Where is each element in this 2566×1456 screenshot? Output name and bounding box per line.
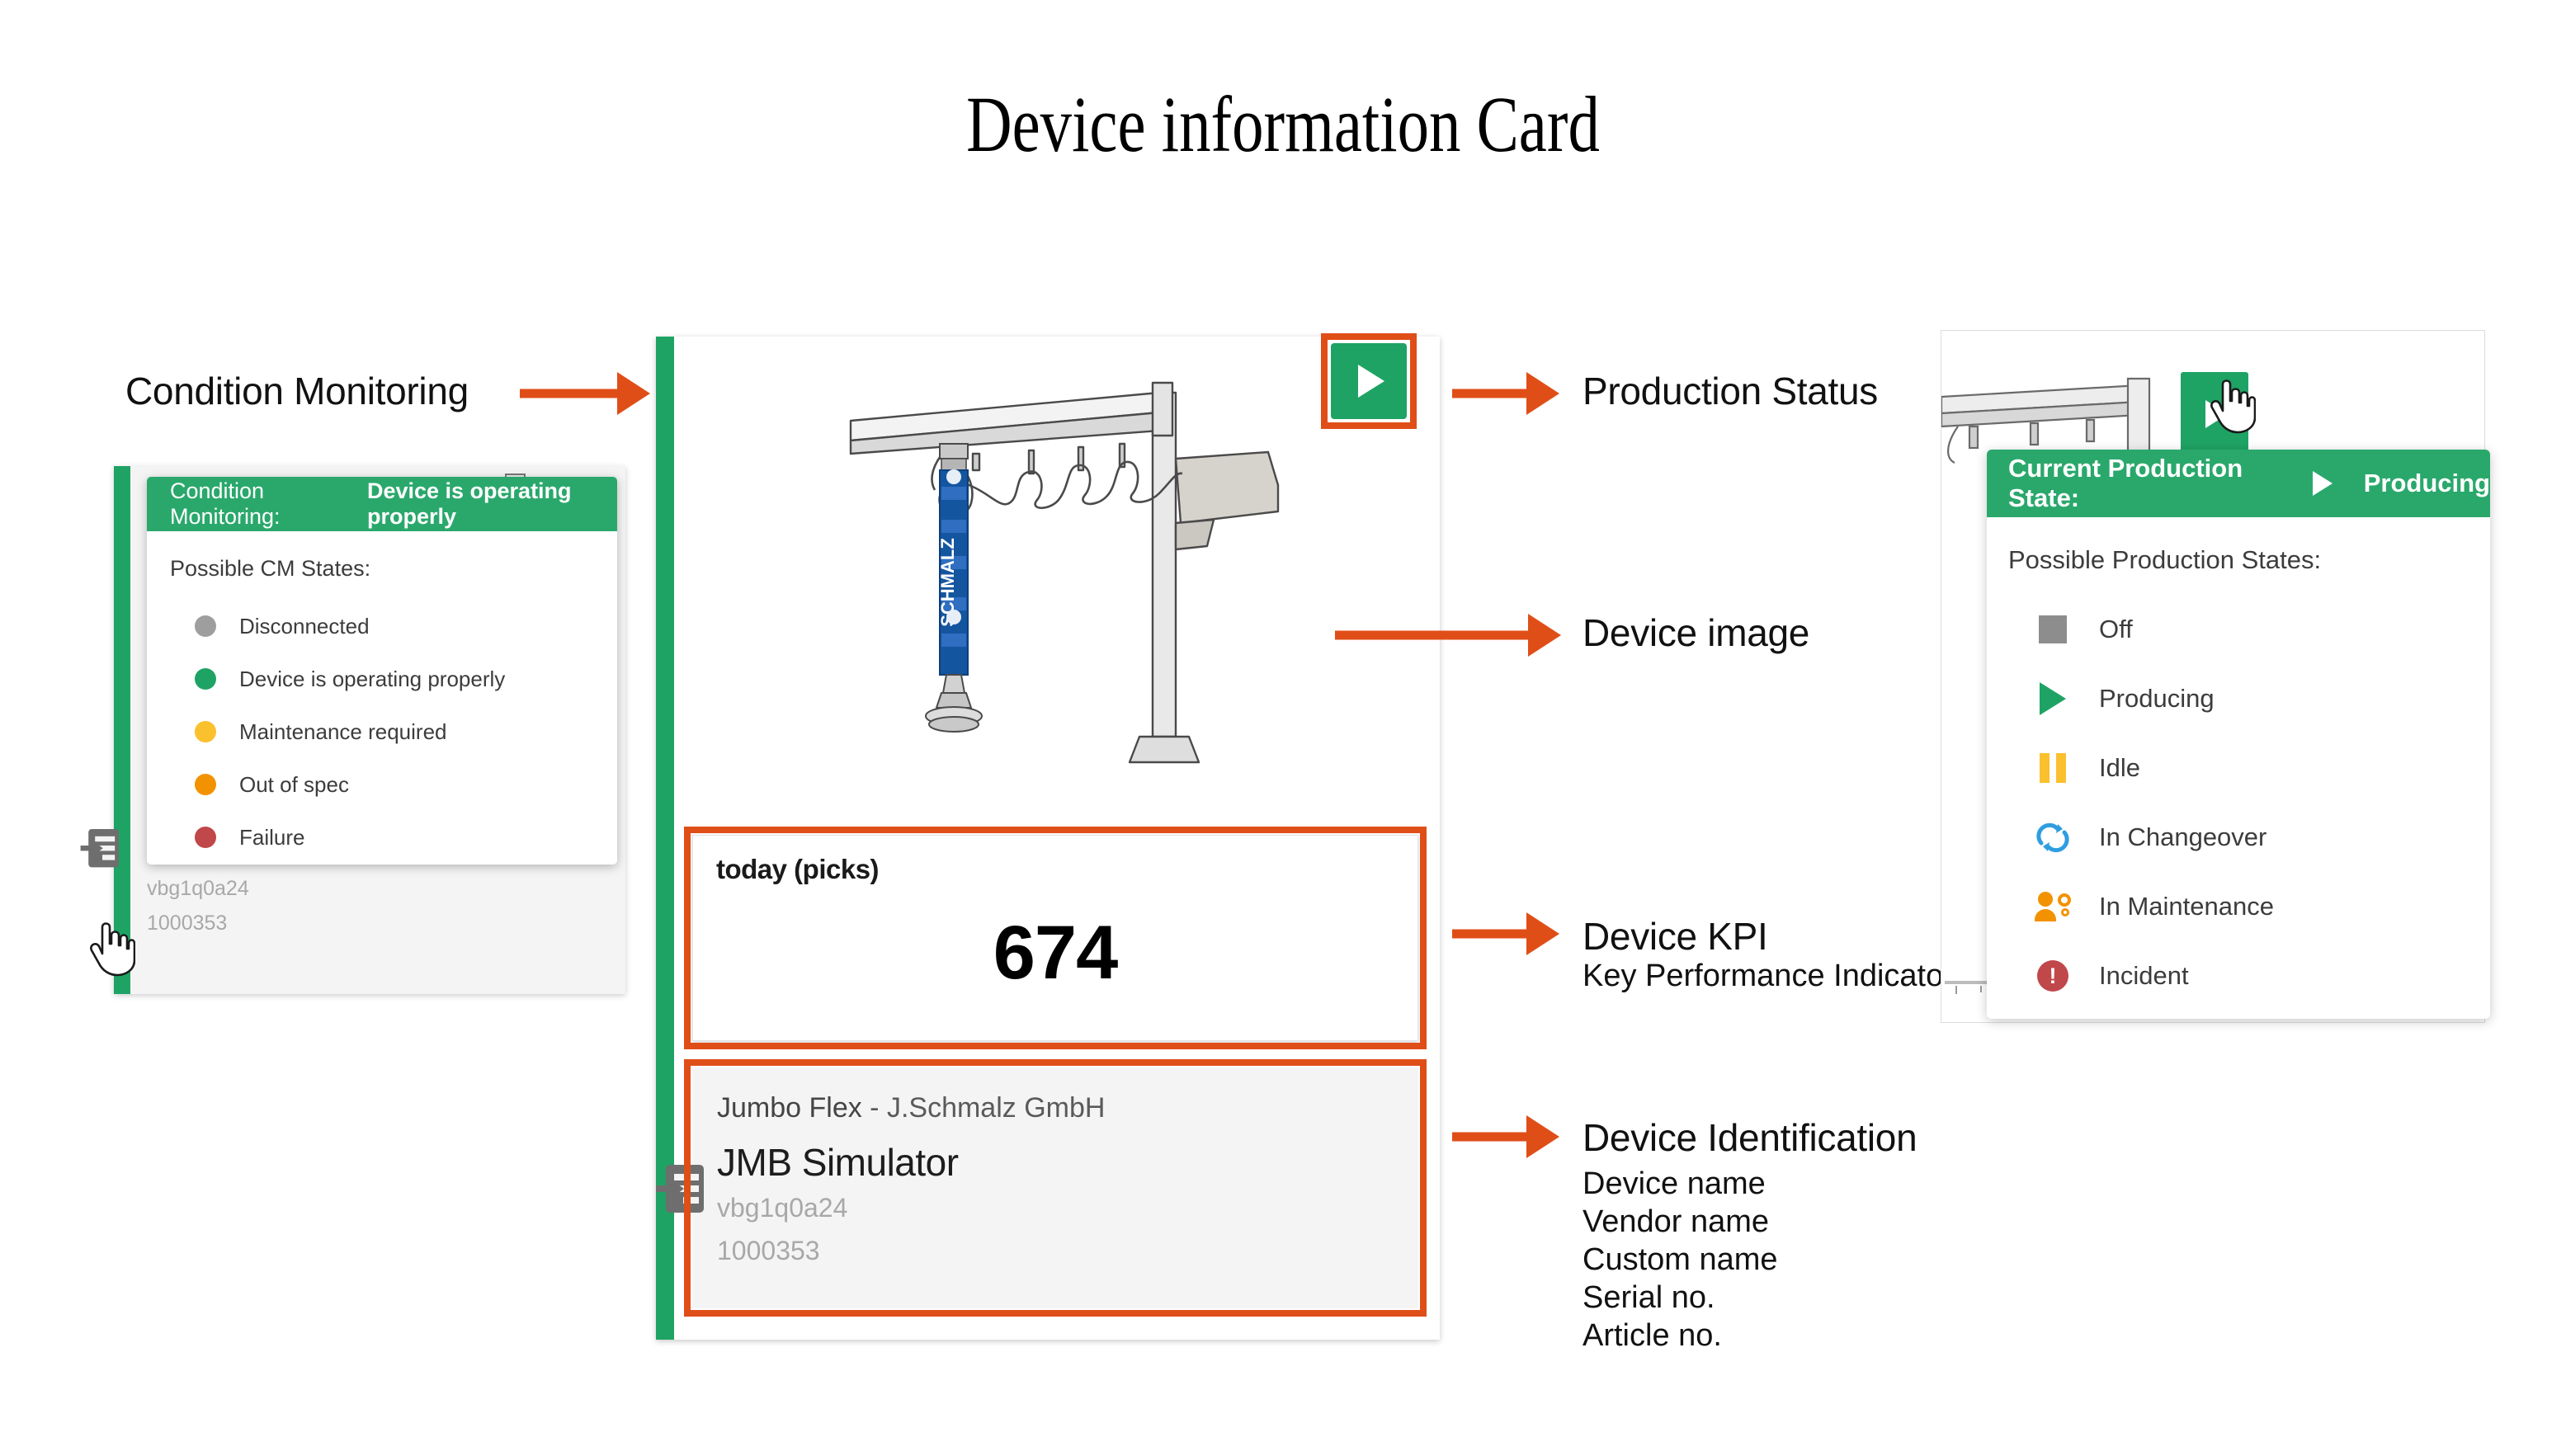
condition-monitoring-popup: Condition Monitoring: Device is operatin… [147,477,617,865]
production-popup-body: Possible Production States: Off Producin… [1987,517,2490,1011]
production-state-row[interactable]: Idle [2008,733,2490,803]
production-state-row[interactable]: Off [2008,595,2490,664]
device-identification-highlight [684,1059,1427,1317]
crane-illustration: SCHMALZ [826,361,1288,799]
production-state-label: Producing [2099,684,2215,714]
square-icon [2033,615,2073,643]
cm-state-label: Out of spec [239,772,349,798]
status-dot-icon [195,721,216,742]
annotation-condition-monitoring: Condition Monitoring [125,369,469,413]
production-state-label: In Changeover [2099,822,2266,852]
annotation-device-identification: Device Identification [1583,1115,1917,1160]
cm-state-label: Device is operating properly [239,667,505,692]
device-kpi-highlight [684,827,1427,1049]
left-serial-no: vbg1q0a24 [147,877,249,901]
hand-cursor-icon [89,916,135,977]
status-dot-icon [195,827,216,848]
production-status-highlight [1321,333,1417,429]
production-state-popup: Current Production State: Producing Poss… [1987,450,2490,1019]
cm-state-row[interactable]: Disconnected [170,600,617,653]
field-label: Custom name [1583,1241,1778,1279]
production-state-label: Idle [2099,753,2140,783]
pause-icon [2033,753,2073,783]
production-popup-header: Current Production State: Producing [1987,450,2490,517]
cm-state-label: Disconnected [239,614,370,639]
field-label: Vendor name [1583,1203,1778,1241]
cm-subtitle: Possible CM States: [170,556,617,582]
annotation-device-kpi: Device KPI [1583,914,1768,959]
field-label: Serial no. [1583,1279,1778,1317]
cm-state-row[interactable]: Device is operating properly [170,653,617,705]
cm-state-row[interactable]: Failure [170,811,617,864]
status-dot-icon [195,668,216,690]
cm-popup-header: Condition Monitoring: Device is operatin… [147,477,617,531]
hand-cursor-icon [2210,373,2256,434]
annotation-device-kpi-sublabel: Key Performance Indicator [1583,957,1954,995]
annotation-production-status: Production Status [1583,369,1878,413]
production-subtitle: Possible Production States: [2008,545,2490,575]
sync-icon [2033,821,2073,854]
production-state-label: Incident [2099,961,2189,991]
page-title: Device information Card [257,78,2309,170]
cm-popup-body: Possible CM States: Disconnected Device … [147,531,617,864]
production-state-row[interactable]: ! Incident [2008,941,2490,1011]
device-card[interactable]: SCHMALZ today (picks) 674 Jumbo Flex - J… [656,337,1440,1340]
production-state-row[interactable]: Producing [2008,664,2490,733]
production-header-value: Producing [2364,469,2490,498]
production-header-key: Current Production State: [2008,454,2280,513]
worker-gear-icon [2033,892,2073,921]
cm-header-value: Device is operating properly [367,478,617,530]
production-state-row[interactable]: In Maintenance [2008,872,2490,941]
cm-state-row[interactable]: Maintenance required [170,705,617,758]
cm-state-row[interactable]: Out of spec [170,758,617,811]
left-login-icon[interactable] [81,829,119,867]
production-state-label: Off [2099,615,2133,644]
device-identification-field-list: Device name Vendor name Custom name Seri… [1583,1165,1778,1355]
cm-state-label: Maintenance required [239,719,447,745]
left-article-no: 1000353 [147,912,227,935]
field-label: Device name [1583,1165,1778,1203]
annotation-device-image: Device image [1583,610,1809,655]
left-condition-monitoring-bar[interactable] [114,466,130,994]
play-icon [2313,471,2333,496]
play-icon [2033,682,2073,715]
status-dot-icon [195,774,216,795]
production-state-row[interactable]: In Changeover [2008,803,2490,872]
production-state-label: In Maintenance [2099,892,2274,921]
field-label: Article no. [1583,1317,1778,1355]
cm-state-label: Failure [239,825,304,851]
cm-header-key: Condition Monitoring: [170,478,346,530]
status-dot-icon [195,615,216,637]
exclamation-circle-icon: ! [2033,960,2073,992]
